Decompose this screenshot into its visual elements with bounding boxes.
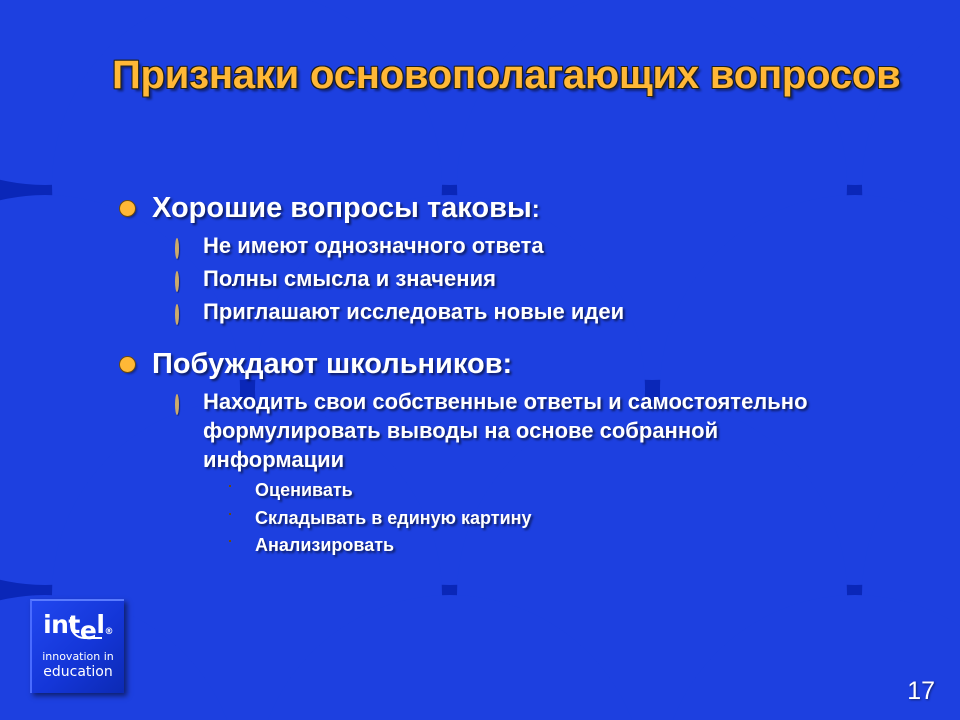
intel-tagline-line1: innovation in <box>42 650 114 664</box>
bullet-ring-icon <box>175 264 203 291</box>
page-number: 17 <box>907 677 935 706</box>
bullet-dot-icon <box>120 190 152 216</box>
bullet-dot-icon <box>120 346 152 372</box>
bullet-ring-icon <box>175 231 203 258</box>
bullet-level1: Хорошие вопросы таковы: <box>120 190 920 227</box>
bullet-level1-label: Побуждают школьников: <box>152 346 512 383</box>
bullet-level2-label: Не имеют однозначного ответа <box>203 231 544 260</box>
bullet-level3-label: Складывать в единую картину <box>255 506 532 530</box>
bullet-level3: Складывать в единую картину <box>120 506 920 530</box>
bullet-small-dot-icon <box>230 533 255 541</box>
bullet-level2: Приглашают исследовать новые идеи <box>120 297 920 326</box>
bullet-level3-label: Анализировать <box>255 533 394 557</box>
intel-logo: intel® innovation in education <box>30 599 124 693</box>
bullet-level2-label: Находить свои собственные ответы и самос… <box>203 387 863 474</box>
bullet-level1-label: Хорошие вопросы таковы: <box>152 190 540 227</box>
title-container: Признаки основополагающих вопросов <box>112 52 902 99</box>
registered-trademark-icon: ® <box>104 627 113 637</box>
intel-wordmark-e: e <box>80 618 96 643</box>
slide-body: Хорошие вопросы таковы: Не имеют однозна… <box>120 190 920 560</box>
intel-tagline-line2: education <box>43 664 112 682</box>
bullet-level2: Полны смысла и значения <box>120 264 920 293</box>
bullet-level3-label: Оценивать <box>255 478 353 502</box>
bullet-ring-icon <box>175 387 203 414</box>
slide-title: Признаки основополагающих вопросов <box>112 52 902 99</box>
bullet-level2-label: Полны смысла и значения <box>203 264 496 293</box>
bullet-level1: Побуждают школьников: <box>120 346 920 383</box>
bullet-small-dot-icon <box>230 478 255 486</box>
presentation-slide: Признаки основополагающих вопросов Хорош… <box>0 0 960 720</box>
bullet-level3: Оценивать <box>120 478 920 502</box>
bullet-ring-icon <box>175 297 203 324</box>
intel-wordmark-int: int <box>43 610 80 639</box>
bullet-small-dot-icon <box>230 506 255 514</box>
intel-wordmark: intel® <box>43 612 113 637</box>
section-spacer <box>120 330 920 346</box>
bullet-level2: Не имеют однозначного ответа <box>120 231 920 260</box>
bullet-level2-label: Приглашают исследовать новые идеи <box>203 297 624 326</box>
bullet-level3: Анализировать <box>120 533 920 557</box>
bullet-level2: Находить свои собственные ответы и самос… <box>120 387 920 474</box>
